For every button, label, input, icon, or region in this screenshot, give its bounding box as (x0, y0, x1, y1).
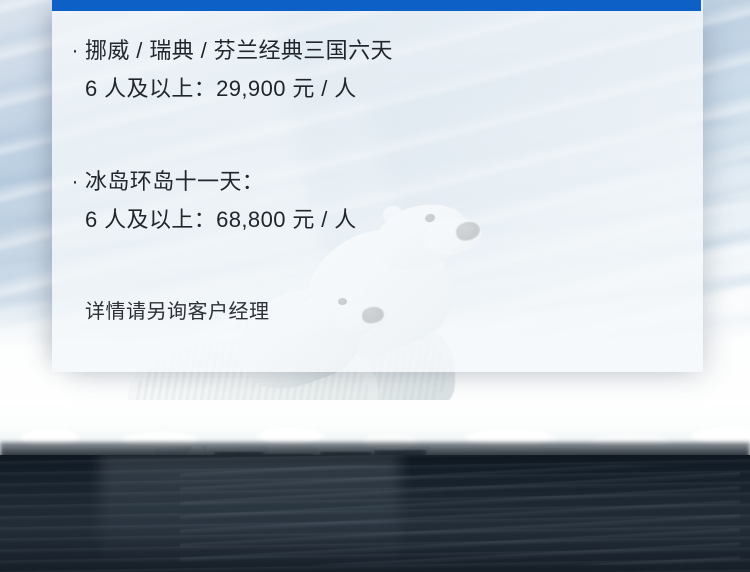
offer-text-group: 挪威 / 瑞典 / 芬兰经典三国六天 6 人及以上：29,900 元 / 人 (85, 33, 703, 107)
card-accent-bar (52, 0, 701, 11)
water-ripples-secondary (180, 465, 740, 565)
offer-title: 冰岛环岛十一天： (85, 164, 703, 200)
offer-text-group: 冰岛环岛十一天： 6 人及以上：68,800 元 / 人 (85, 164, 703, 238)
offer-title: 挪威 / 瑞典 / 芬兰经典三国六天 (85, 33, 703, 69)
arctic-water (0, 455, 750, 572)
offer-price: 6 人及以上：29,900 元 / 人 (85, 71, 703, 107)
offer-item: · 挪威 / 瑞典 / 芬兰经典三国六天 6 人及以上：29,900 元 / 人 (52, 33, 703, 107)
offer-price: 6 人及以上：68,800 元 / 人 (85, 202, 703, 238)
card-content: · 挪威 / 瑞典 / 芬兰经典三国六天 6 人及以上：29,900 元 / 人… (52, 11, 703, 372)
promo-slide: · 挪威 / 瑞典 / 芬兰经典三国六天 6 人及以上：29,900 元 / 人… (0, 0, 750, 572)
bullet-icon: · (65, 33, 85, 69)
contact-note: 详情请另询客户经理 (52, 296, 703, 328)
pricing-card: · 挪威 / 瑞典 / 芬兰经典三国六天 6 人及以上：29,900 元 / 人… (52, 0, 703, 372)
bullet-icon: · (65, 164, 85, 200)
offer-item: · 冰岛环岛十一天： 6 人及以上：68,800 元 / 人 (52, 164, 703, 238)
